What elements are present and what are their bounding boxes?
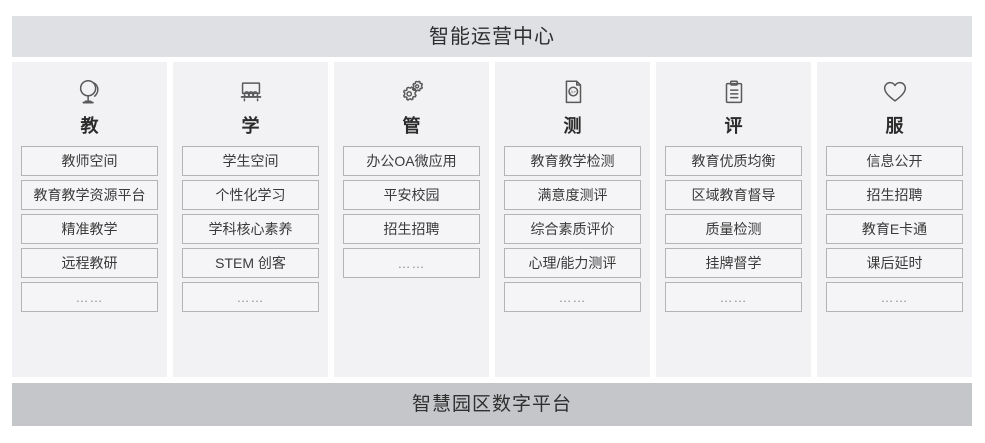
list-item[interactable]: STEM 创客 (182, 248, 319, 278)
column-card-guan: 管 办公OA微应用 平安校园 招生招聘 …… (334, 62, 489, 377)
list-item-more[interactable]: …… (826, 282, 963, 312)
list-item[interactable]: 学科核心素养 (182, 214, 319, 244)
list-item[interactable]: 满意度测评 (504, 180, 641, 210)
column-title: 教 (21, 115, 158, 137)
capability-columns: 教 教师空间 教育教学资源平台 精准教学 远程教研 …… (12, 62, 972, 377)
column-card-xue: 学 学生空间 个性化学习 学科核心素养 STEM 创客 …… (173, 62, 328, 377)
document-grade-icon: A+ (504, 75, 641, 109)
list-item[interactable]: 平安校园 (343, 180, 480, 210)
list-item[interactable]: 课后延时 (826, 248, 963, 278)
list-item[interactable]: 远程教研 (21, 248, 158, 278)
operations-center-page: 智能运营中心 教 教师空间 教育教学资源平台 精准教学 远程教研 …… (0, 0, 985, 443)
list-item[interactable]: 质量检测 (665, 214, 802, 244)
list-item[interactable]: 综合素质评价 (504, 214, 641, 244)
list-item[interactable]: 挂牌督学 (665, 248, 802, 278)
page-title: 智能运营中心 (429, 27, 555, 47)
column-title: 评 (665, 115, 802, 137)
list-item[interactable]: 信息公开 (826, 146, 963, 176)
list-item-more[interactable]: …… (343, 248, 480, 278)
column-item-list: 办公OA微应用 平安校园 招生招聘 …… (343, 146, 480, 278)
column-title: 管 (343, 115, 480, 137)
clipboard-icon (665, 75, 802, 109)
list-item[interactable]: 教育教学检测 (504, 146, 641, 176)
list-item[interactable]: 区域教育督导 (665, 180, 802, 210)
column-item-list: 学生空间 个性化学习 学科核心素养 STEM 创客 …… (182, 146, 319, 312)
column-item-list: 教育教学检测 满意度测评 综合素质评价 心理/能力测评 …… (504, 146, 641, 312)
svg-text:A+: A+ (570, 90, 576, 96)
header-banner: 智能运营中心 (12, 16, 972, 57)
list-item[interactable]: 心理/能力测评 (504, 248, 641, 278)
column-title: 学 (182, 115, 319, 137)
list-item[interactable]: 学生空间 (182, 146, 319, 176)
column-card-ce: A+ 测 教育教学检测 满意度测评 综合素质评价 心理/能力测评 …… (495, 62, 650, 377)
column-card-jiao: 教 教师空间 教育教学资源平台 精准教学 远程教研 …… (12, 62, 167, 377)
column-title: 测 (504, 115, 641, 137)
column-item-list: 教师空间 教育教学资源平台 精准教学 远程教研 …… (21, 146, 158, 312)
list-item[interactable]: 教育教学资源平台 (21, 180, 158, 210)
list-item[interactable]: 个性化学习 (182, 180, 319, 210)
list-item[interactable]: 精准教学 (21, 214, 158, 244)
list-item[interactable]: 教育优质均衡 (665, 146, 802, 176)
list-item[interactable]: 教师空间 (21, 146, 158, 176)
list-item-more[interactable]: …… (665, 282, 802, 312)
list-item[interactable]: 办公OA微应用 (343, 146, 480, 176)
gears-icon (343, 75, 480, 109)
heart-icon (826, 75, 963, 109)
column-item-list: 教育优质均衡 区域教育督导 质量检测 挂牌督学 …… (665, 146, 802, 312)
list-item[interactable]: 招生招聘 (826, 180, 963, 210)
list-item-more[interactable]: …… (21, 282, 158, 312)
list-item[interactable]: 教育E卡通 (826, 214, 963, 244)
globe-icon (21, 75, 158, 109)
footer-title: 智慧园区数字平台 (412, 395, 572, 414)
column-card-fu: 服 信息公开 招生招聘 教育E卡通 课后延时 …… (817, 62, 972, 377)
column-item-list: 信息公开 招生招聘 教育E卡通 课后延时 …… (826, 146, 963, 312)
column-title: 服 (826, 115, 963, 137)
footer-banner: 智慧园区数字平台 (12, 383, 972, 426)
classroom-icon (182, 75, 319, 109)
list-item-more[interactable]: …… (182, 282, 319, 312)
list-item[interactable]: 招生招聘 (343, 214, 480, 244)
column-card-ping: 评 教育优质均衡 区域教育督导 质量检测 挂牌督学 …… (656, 62, 811, 377)
list-item-more[interactable]: …… (504, 282, 641, 312)
